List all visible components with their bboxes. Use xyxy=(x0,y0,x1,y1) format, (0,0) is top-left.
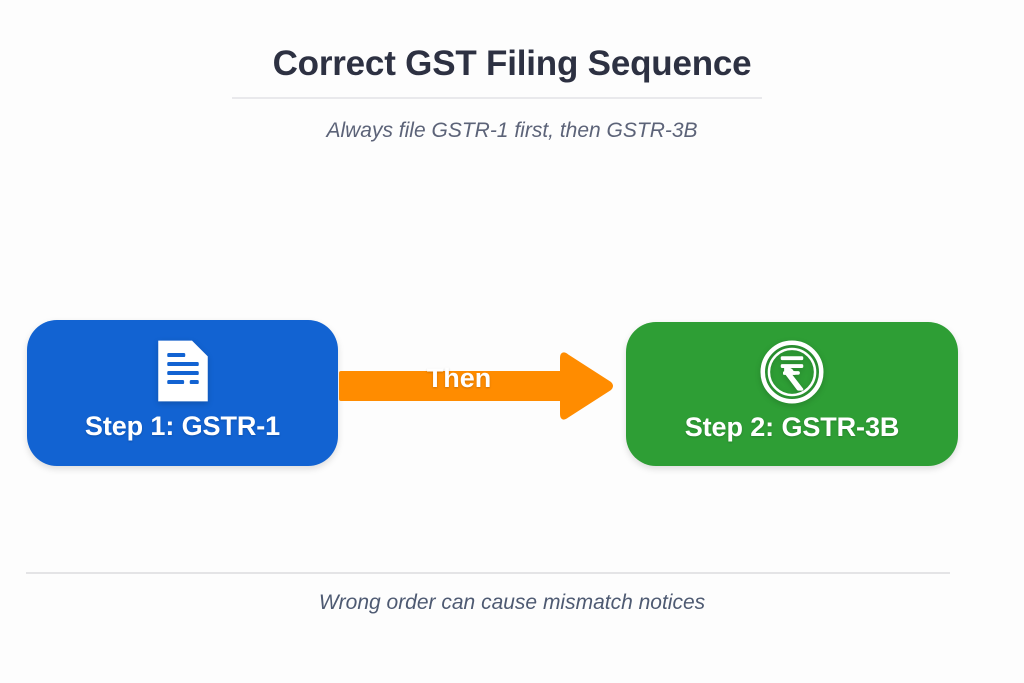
flow-diagram: Step 1: GSTR-1 Then xyxy=(0,318,1024,468)
rupee-coin-icon xyxy=(756,336,828,408)
title-divider xyxy=(232,97,762,99)
step-card-gstr1-label: Step 1: GSTR-1 xyxy=(85,411,280,442)
step-card-gstr3b[interactable]: Step 2: GSTR-3B xyxy=(626,322,958,466)
flow-connector-label: Then xyxy=(339,363,579,394)
step-card-gstr1[interactable]: Step 1: GSTR-1 xyxy=(27,320,338,466)
document-icon xyxy=(147,335,219,407)
footer-divider xyxy=(26,572,950,574)
page-subtitle: Always file GSTR-1 first, then GSTR-3B xyxy=(0,116,1024,146)
footer-note: Wrong order can cause mismatch notices xyxy=(0,588,1024,618)
infographic-canvas: Correct GST Filing Sequence Always file … xyxy=(0,0,1024,683)
page-title: Correct GST Filing Sequence xyxy=(0,42,1024,86)
flow-connector: Then xyxy=(339,336,613,436)
step-card-gstr3b-label: Step 2: GSTR-3B xyxy=(685,412,900,443)
